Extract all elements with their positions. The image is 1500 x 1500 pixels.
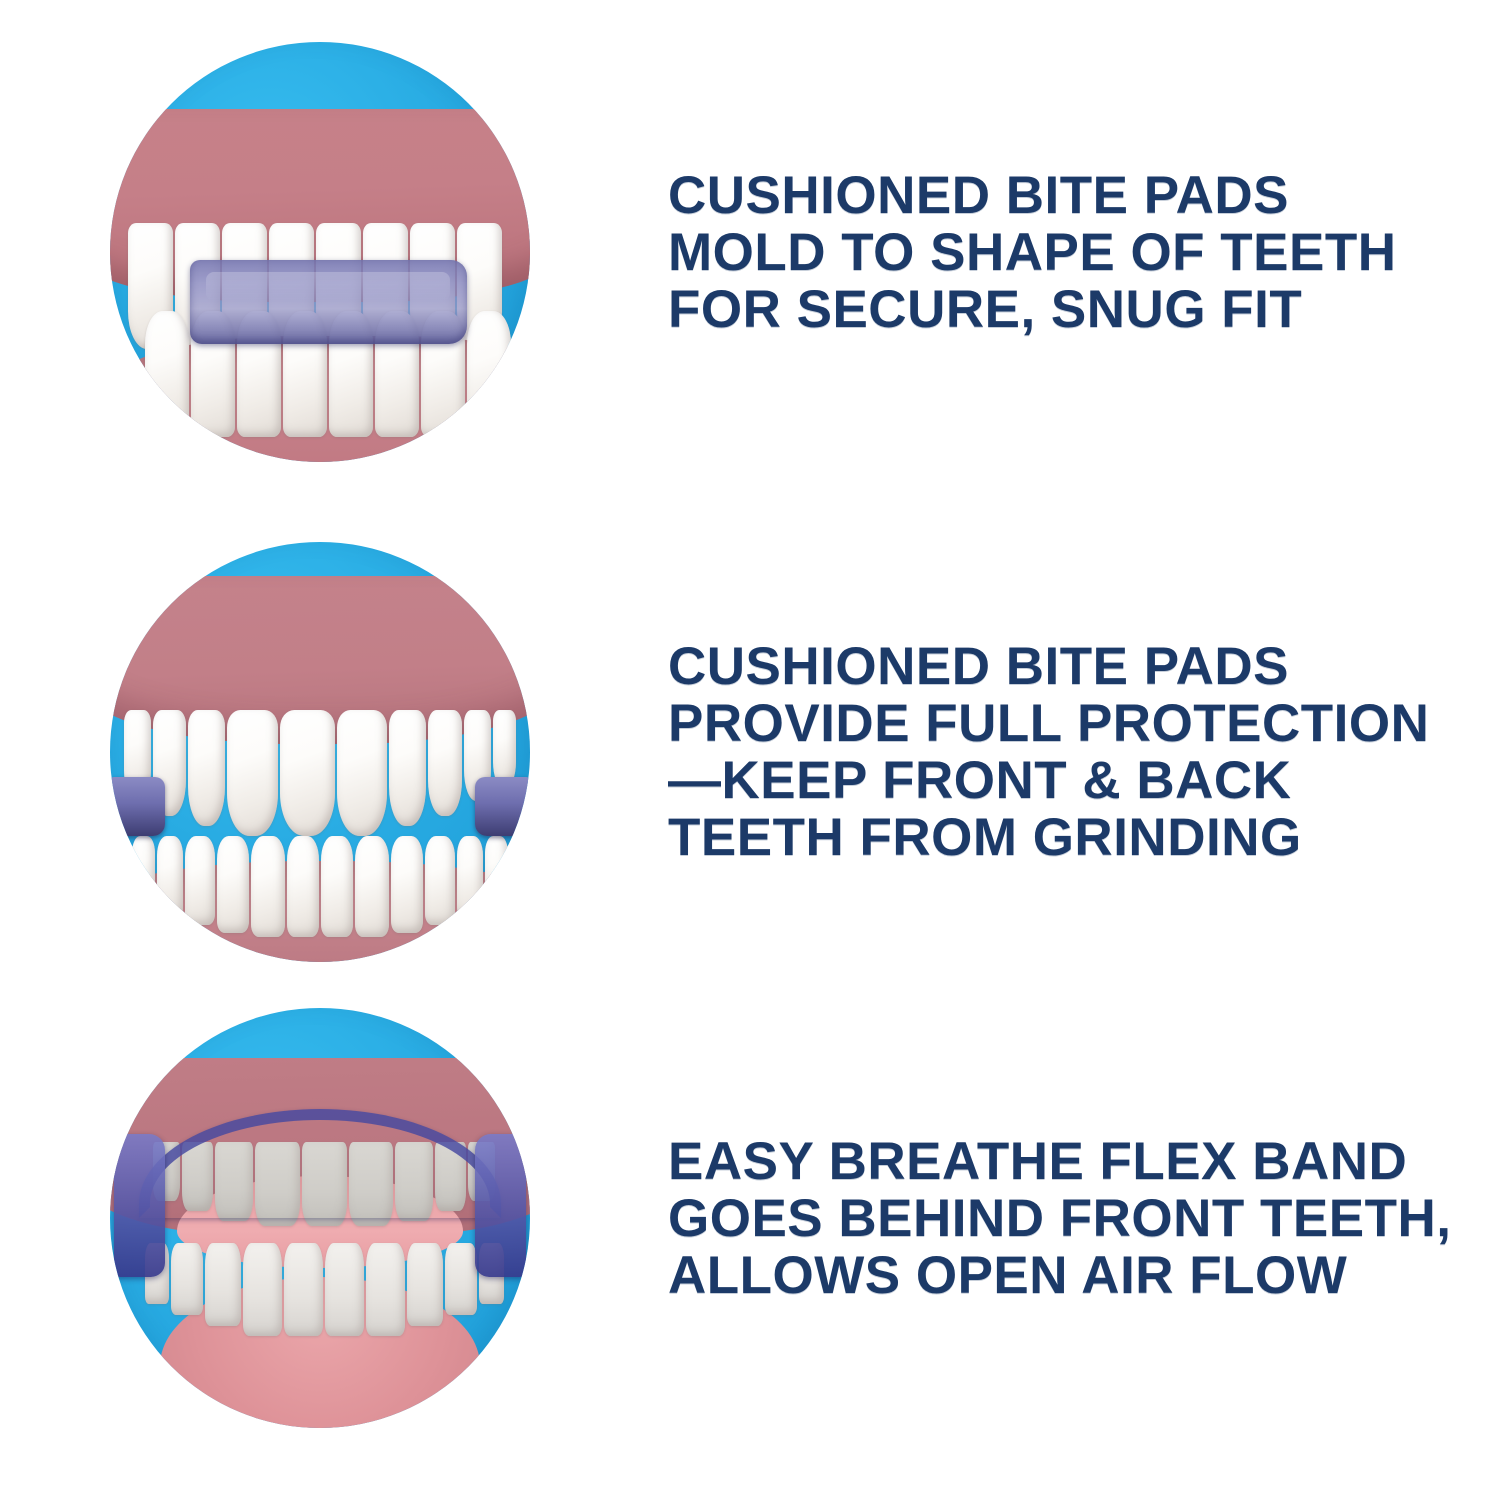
feature-3-media	[0, 1008, 640, 1428]
lower-teeth-row	[144, 1243, 505, 1335]
feature-row-2: CUSHIONED BITE PADS PROVIDE FULL PROTECT…	[0, 542, 1500, 962]
bite-pad-right	[475, 777, 530, 836]
tooth	[205, 1243, 241, 1326]
tooth	[485, 836, 508, 907]
feature-3-text: EASY BREATHE FLEX BAND GOES BEHIND FRONT…	[640, 1133, 1500, 1304]
tooth	[287, 836, 319, 937]
feature-2-text: CUSHIONED BITE PADS PROVIDE FULL PROTECT…	[640, 638, 1500, 866]
tooth	[280, 710, 335, 836]
tooth	[355, 836, 389, 937]
feature-1-text: CUSHIONED BITE PADS MOLD TO SHAPE OF TEE…	[640, 167, 1500, 338]
tooth	[467, 311, 511, 437]
feature-3-headline: EASY BREATHE FLEX BAND GOES BEHIND FRONT…	[668, 1133, 1458, 1304]
tooth	[407, 1243, 443, 1326]
feature-2-headline: CUSHIONED BITE PADS PROVIDE FULL PROTECT…	[668, 638, 1458, 866]
tooth	[457, 836, 483, 917]
tooth	[243, 1243, 282, 1335]
tooth	[157, 836, 183, 917]
infographic-page: CUSHIONED BITE PADS MOLD TO SHAPE OF TEE…	[0, 0, 1500, 1500]
feature-row-1: CUSHIONED BITE PADS MOLD TO SHAPE OF TEE…	[0, 42, 1500, 462]
tooth	[227, 710, 278, 836]
flex-band-clip-left	[114, 1134, 164, 1277]
tooth	[428, 710, 461, 816]
tooth	[337, 710, 388, 836]
tooth	[145, 311, 189, 437]
upper-teeth-row	[123, 710, 518, 836]
feature-row-3: EASY BREATHE FLEX BAND GOES BEHIND FRONT…	[0, 1008, 1500, 1428]
teeth-interior-view-with-flex-band-illustration	[110, 1008, 530, 1428]
feature-2-media	[0, 542, 640, 962]
tooth	[132, 836, 155, 907]
tooth	[171, 1243, 203, 1315]
flex-band-clip-right	[475, 1134, 525, 1277]
tooth	[251, 836, 285, 937]
tooth	[366, 1243, 405, 1335]
bite-pad-left	[110, 777, 165, 836]
tooth	[217, 836, 249, 933]
cushioned-mouthguard	[190, 260, 467, 344]
tooth	[325, 1243, 364, 1335]
tooth	[425, 836, 455, 925]
tooth	[389, 710, 426, 826]
tooth	[185, 836, 215, 925]
teeth-front-view-with-bite-pads-illustration	[110, 542, 530, 962]
feature-1-media	[0, 42, 640, 462]
tooth	[321, 836, 353, 937]
tooth	[284, 1243, 323, 1335]
feature-1-headline: CUSHIONED BITE PADS MOLD TO SHAPE OF TEE…	[668, 167, 1458, 338]
lower-teeth-row	[131, 836, 509, 937]
teeth-side-view-with-mouthguard-illustration	[110, 42, 530, 462]
tooth	[445, 1243, 477, 1315]
tooth	[188, 710, 225, 826]
tooth	[391, 836, 423, 933]
